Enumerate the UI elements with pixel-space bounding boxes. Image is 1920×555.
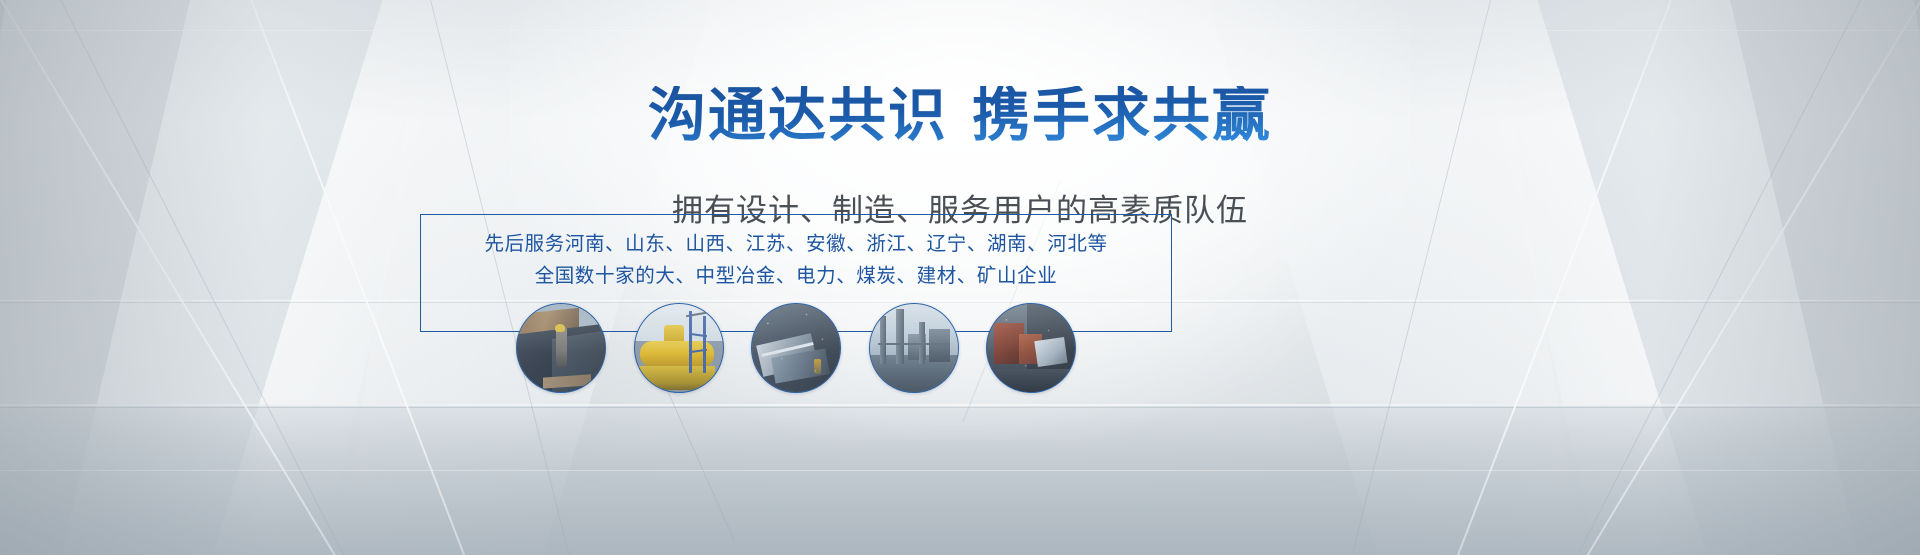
power-plant-chimneys-photo[interactable]	[869, 303, 959, 393]
service-coverage-text: 先后服务河南、山东、山西、江苏、安徽、浙江、辽宁、湖南、河北等 全国数十家的大、…	[420, 228, 1172, 292]
promo-banner: 沟通达共识携手求共赢 拥有设计、制造、服务用户的高素质队伍 先后服务河南、山东、…	[0, 0, 1920, 555]
red-industrial-equipment-photo[interactable]	[986, 303, 1076, 393]
headline-part-left: 沟通达共识	[648, 81, 948, 149]
yellow-industrial-dryer-photo[interactable]	[634, 303, 724, 393]
thumb5-haze	[987, 304, 1075, 392]
thumb1-haze	[517, 304, 605, 392]
banner-headline: 沟通达共识携手求共赢	[0, 86, 1920, 144]
project-photo-strip	[516, 302, 1076, 394]
headline-part-right: 携手求共赢	[972, 81, 1272, 149]
worker-on-tank-shell-photo[interactable]	[516, 303, 606, 393]
thumb2-haze	[635, 304, 723, 392]
service-coverage-line-1: 先后服务河南、山东、山西、江苏、安徽、浙江、辽宁、湖南、河北等	[420, 228, 1172, 260]
thumb3-haze	[752, 304, 840, 392]
banner-content: 沟通达共识携手求共赢 拥有设计、制造、服务用户的高素质队伍 先后服务河南、山东、…	[0, 0, 1920, 555]
thumb4-haze	[870, 304, 958, 392]
steel-plate-structure-photo[interactable]	[751, 303, 841, 393]
service-coverage-line-2: 全国数十家的大、中型冶金、电力、煤炭、建材、矿山企业	[420, 260, 1172, 292]
